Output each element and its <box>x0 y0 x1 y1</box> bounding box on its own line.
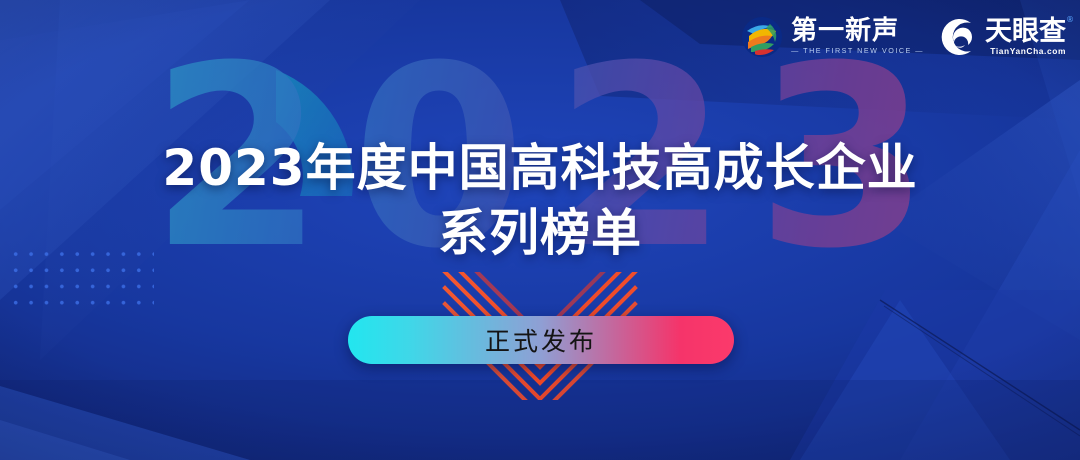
title-line-2: 系列榜单 <box>0 201 1080 266</box>
release-badge[interactable]: 正式发布 <box>348 316 734 364</box>
logo-tagline-en-2: TianYanCha.com <box>985 46 1066 56</box>
release-badge-label: 正式发布 <box>485 322 597 358</box>
title-line-1: 2023年度中国高科技高成长企业 <box>0 136 1080 201</box>
trademark-symbol: ® <box>1066 16 1074 24</box>
logo-name-cn: 第一新声 <box>791 18 924 46</box>
logo-name-cn-2: 天眼查® <box>985 18 1066 46</box>
logo-tianyancha[interactable]: 天眼查® TianYanCha.com <box>938 17 1066 57</box>
page-title: 2023年度中国高科技高成长企业 系列榜单 <box>0 136 1080 266</box>
logo-text-group: 第一新声 — THE FIRST NEW VOICE — <box>791 18 924 55</box>
ribbon-swirl-icon <box>740 16 784 58</box>
header-logos: 第一新声 — THE FIRST NEW VOICE — 天眼查® TianYa… <box>740 11 1066 63</box>
logo-tagline-en: — THE FIRST NEW VOICE — <box>791 47 924 56</box>
logo-text-group-2: 天眼查® TianYanCha.com <box>985 18 1066 57</box>
logo-name-cn-2-text: 天眼查 <box>985 16 1066 47</box>
eye-lens-icon <box>938 17 978 57</box>
promo-banner: 2023 <box>0 0 1080 460</box>
logo-diyixinsheng[interactable]: 第一新声 — THE FIRST NEW VOICE — <box>740 16 924 58</box>
